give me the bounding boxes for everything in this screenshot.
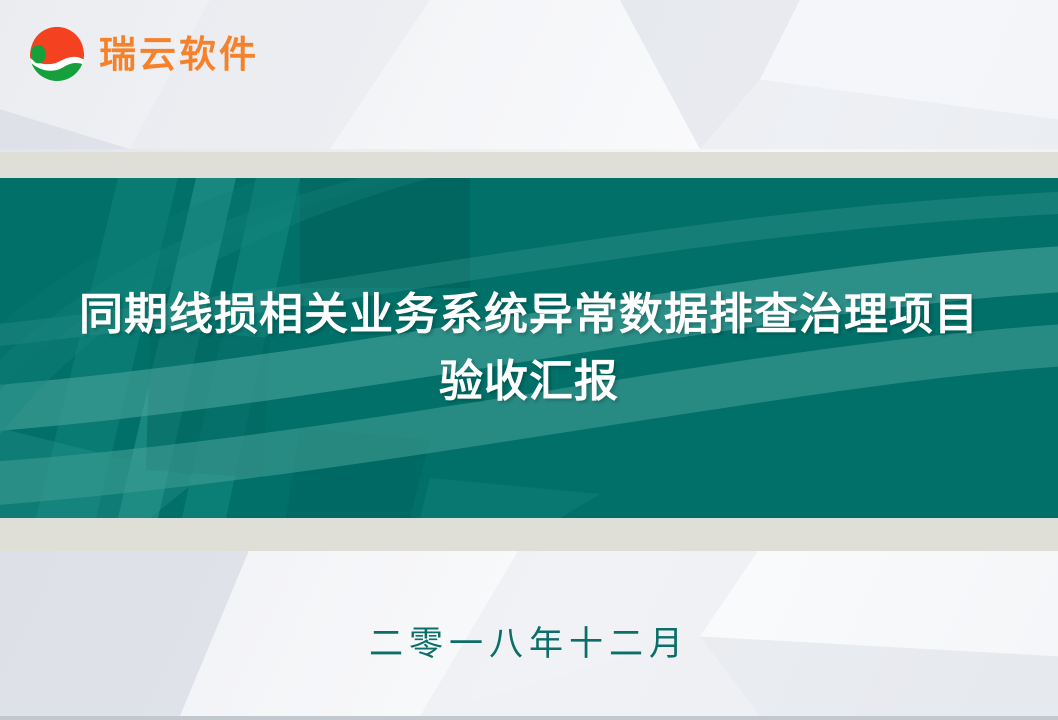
brand-logo[interactable]: 瑞云软件 [28,25,259,83]
hero-title-line-2: 验收汇报 [439,354,619,409]
hero-band: 同期线损相关业务系统异常数据排查治理项目 验收汇报 [0,178,1058,518]
beige-divider-bottom [0,518,1058,551]
hero-title-block: 同期线损相关业务系统异常数据排查治理项目 验收汇报 [0,178,1058,518]
brand-wordmark: 瑞云软件 [99,36,259,73]
footer-zone: 二零一八年十二月 [0,551,1058,716]
presentation-date: 二零一八年十二月 [0,627,1058,661]
ruiyun-circle-logo-icon [28,25,86,83]
header-zone: 瑞云软件 [0,0,1058,150]
beige-divider-top [0,152,1058,178]
hero-title-line-1: 同期线损相关业务系统异常数据排查治理项目 [79,287,979,342]
title-slide: 瑞云软件 同期线损相关业务系统异常数据排查治理项目 [0,0,1058,720]
